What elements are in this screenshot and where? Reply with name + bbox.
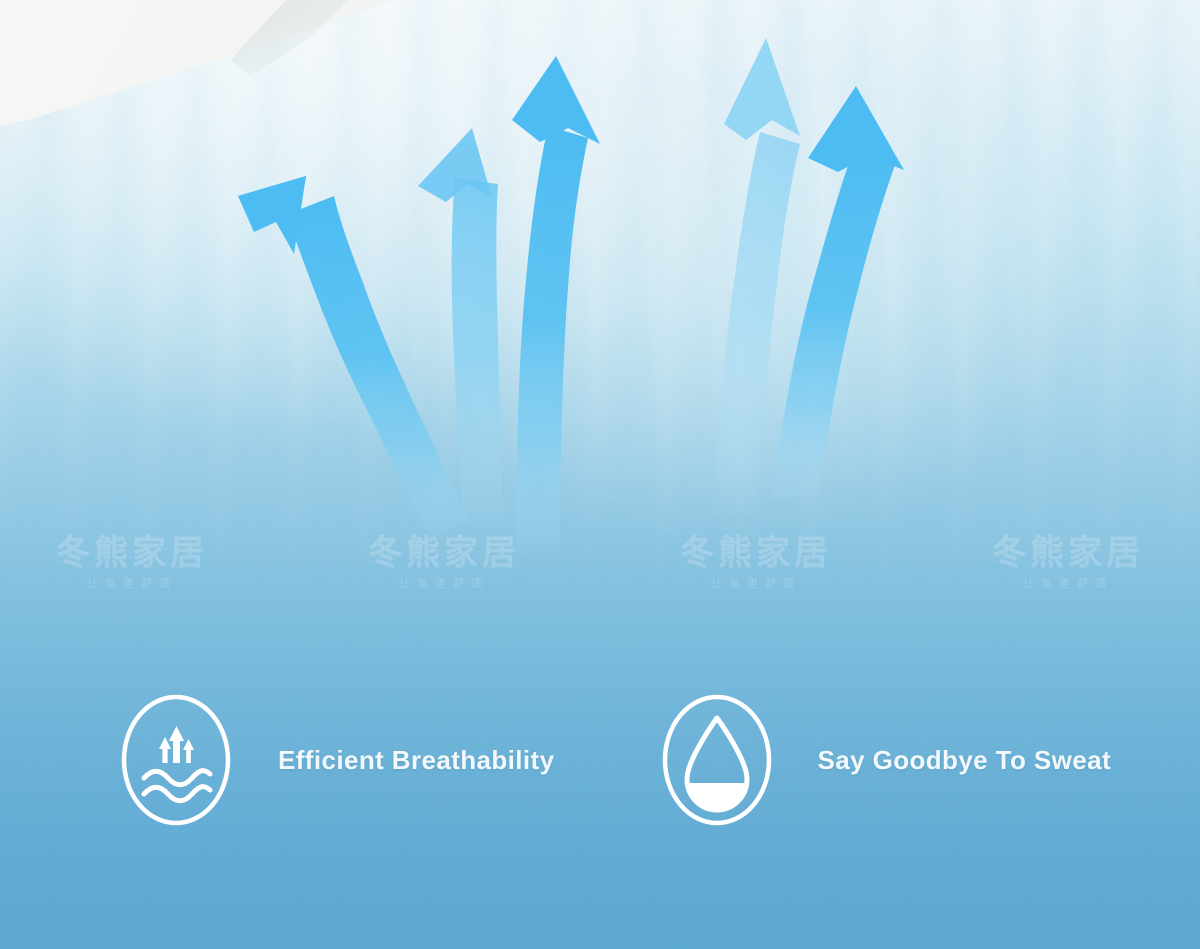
feature-item-breathability: Efficient Breathability	[118, 693, 554, 828]
water-drop-icon	[659, 693, 775, 828]
feature-row: Efficient Breathability Say Goodbye To S…	[0, 690, 1200, 830]
airflow-arrow-3	[512, 56, 600, 560]
feature-label-sweat: Say Goodbye To Sweat	[817, 745, 1111, 776]
feature-item-sweat: Say Goodbye To Sweat	[659, 693, 1111, 828]
feature-label-breathability: Efficient Breathability	[278, 745, 554, 776]
product-feature-banner: 冬熊家居 让家更舒适 冬熊家居 让家更舒适 冬熊家居 让家更舒适 冬熊家居 让家…	[0, 0, 1200, 949]
airflow-arrow-1	[238, 176, 468, 540]
breathability-waves-icon	[118, 693, 234, 828]
